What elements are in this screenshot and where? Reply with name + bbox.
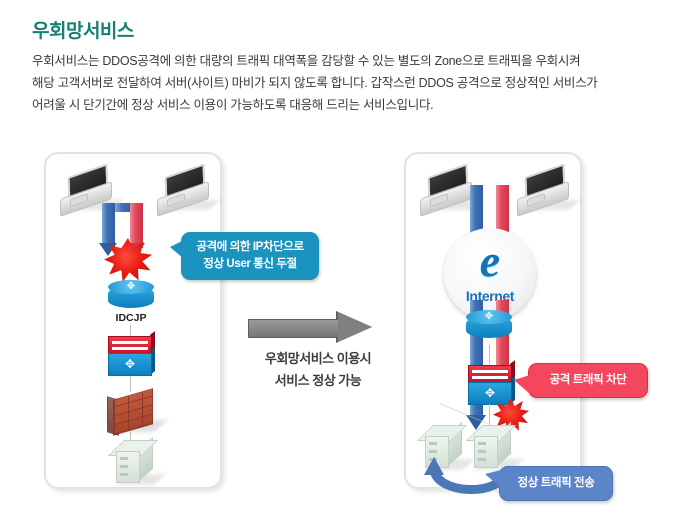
callout-attack-blocked: 공격 트래픽 차단 xyxy=(528,363,648,398)
internet-explorer-icon: e Internet xyxy=(444,228,536,320)
attack-traffic-pipe xyxy=(496,185,509,194)
callout-tail xyxy=(485,470,501,488)
router-icon: ✥ xyxy=(466,310,512,344)
router-icon: ✥ xyxy=(108,280,154,314)
callout-line-2: 정상 User 통신 두절 xyxy=(191,256,309,273)
link-line xyxy=(489,345,490,365)
center-line-2: 서비스 정상 가능 xyxy=(238,370,398,392)
callout-text: 공격 트래픽 차단 xyxy=(550,374,627,386)
firewall-icon xyxy=(107,388,155,436)
page-title: 우회망서비스 xyxy=(32,16,134,43)
callout-tail xyxy=(170,240,184,259)
laptop-icon xyxy=(418,170,474,212)
intro-line-2: 해당 고객서버로 전달하여 서버(사이트) 마비가 되지 않도록 합니다. 갑작… xyxy=(32,72,652,94)
callout-normal-traffic: 정상 트래픽 전송 xyxy=(499,466,613,501)
laptop-icon xyxy=(155,170,211,212)
intro-paragraph: 우회서비스는 DDOS공격에 의한 대량의 트래픽 대역폭을 감당할 수 있는 … xyxy=(32,50,652,116)
callout-line-1: 공격에 의한 IP차단으로 xyxy=(191,239,309,256)
router-label: IDCJP xyxy=(88,312,174,324)
switch-icon: ✥ xyxy=(108,336,154,376)
center-line-1: 우회망서비스 이용시 xyxy=(238,348,398,370)
internet-label: Internet xyxy=(444,288,536,304)
intro-line-1: 우회서비스는 DDOS공격에 의한 대량의 트래픽 대역폭을 감당할 수 있는 … xyxy=(32,50,652,72)
intro-line-3: 어려울 시 단기간에 정상 서비스 이용이 가능하도록 대응해 드리는 서비스입… xyxy=(32,94,652,116)
callout-ip-block: 공격에 의한 IP차단으로 정상 User 통신 두절 xyxy=(181,232,319,280)
server-icon xyxy=(110,440,156,488)
callout-text: 정상 트래픽 전송 xyxy=(518,477,595,489)
callout-tail xyxy=(514,375,530,394)
laptop-icon xyxy=(515,170,571,212)
attack-burst-icon xyxy=(104,238,152,282)
center-caption: 우회망서비스 이용시 서비스 정상 가능 xyxy=(238,348,398,392)
right-arrow-icon xyxy=(248,312,388,342)
